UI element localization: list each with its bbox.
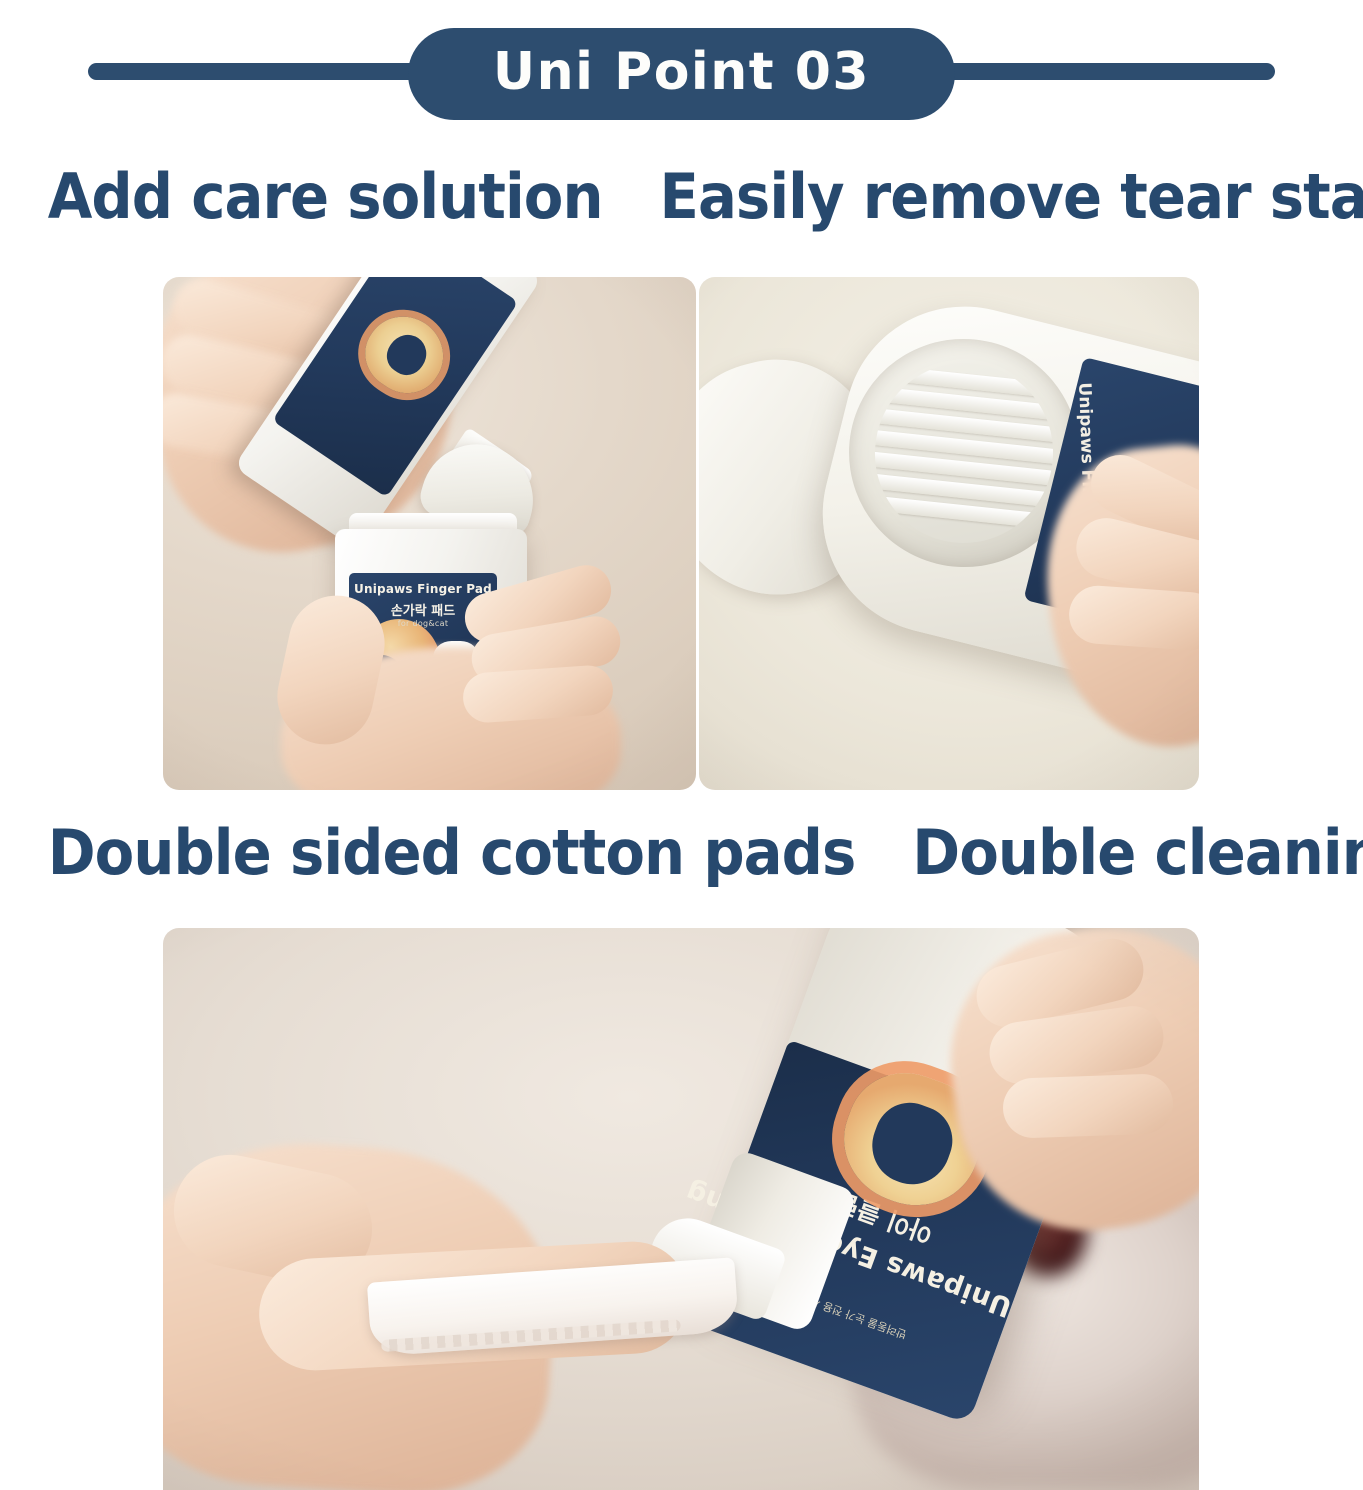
photo-panel-open-jar: Unipaws Finger Pad — [699, 277, 1199, 790]
headline-2-left: Double sided cotton pads — [48, 816, 856, 889]
header-rule-right — [925, 63, 1275, 80]
section-header: Uni Point 03 — [0, 14, 1363, 120]
panel-b-finger — [1067, 584, 1199, 652]
headline-1-right: Easily remove tear stains — [659, 160, 1363, 233]
badge-label: Uni Point 03 — [493, 46, 870, 102]
photo-panel-add-solution: Unipaws Finger Pad 손가락 패드 for dog&cat 50 — [163, 277, 696, 790]
panel-b-pad-stack — [856, 344, 1072, 562]
headline-row-2: Double sided cotton pads Double cleaning — [48, 822, 1316, 884]
photo-panel-double-cleaning: 반려동물 눈가 전용 세정제 Unipaws Eye Cleaning 아이 클… — [163, 928, 1199, 1490]
jar-label-title: Unipaws Finger Pad — [349, 582, 497, 596]
header-rule-left — [88, 63, 438, 80]
headline-row-1: Add care solution Easily remove tear sta… — [48, 166, 1316, 228]
panel-a-lower-finger — [461, 664, 614, 724]
panel-c-right-finger — [1002, 1073, 1174, 1139]
product-feature-page: Uni Point 03 Add care solution Easily re… — [0, 0, 1363, 1490]
headline-2-right: Double cleaning — [912, 816, 1363, 889]
photo-panels-top: Unipaws Finger Pad 손가락 패드 for dog&cat 50 — [163, 277, 1199, 790]
headline-1-left: Add care solution — [48, 160, 603, 233]
uni-point-badge: Uni Point 03 — [408, 28, 955, 120]
